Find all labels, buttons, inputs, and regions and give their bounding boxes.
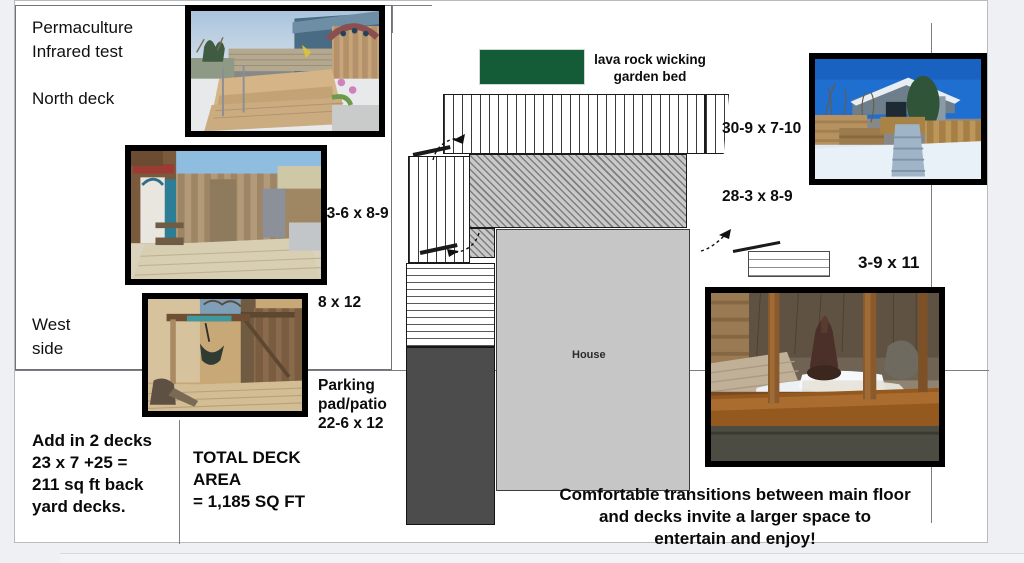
note-add-decks: Add in 2 decks 23 x 7 +25 = 211 sq ft ba… [32, 430, 192, 518]
photo-swing-deck[interactable] [142, 293, 308, 417]
screenshot-canvas: Permaculture Infrared test North deck We… [0, 0, 1024, 562]
north-deck-shape [443, 94, 705, 154]
lava-rock-swatch [479, 49, 585, 85]
dim-small-deck: 3-9 x 11 [858, 253, 919, 272]
photo-west-side[interactable] [125, 145, 327, 285]
house-label: House [572, 349, 606, 361]
dim-west-deck: 13-6 x 8-9 [318, 204, 389, 223]
photo-swing-deck-image [148, 299, 302, 414]
note-total-area: TOTAL DECK AREA = 1,185 SQ FT [193, 447, 373, 513]
north-arrow-callout [429, 134, 469, 162]
dim-parking-pad: Parking pad/patio 22-6 x 12 [318, 376, 387, 433]
parking-pad-shape [406, 347, 495, 525]
lava-rock-legend-label: lava rock wicking garden bed [585, 51, 715, 85]
textbox-corner-line-h [392, 5, 432, 6]
photo-north-deck[interactable] [185, 5, 385, 137]
photo-window-view-image [711, 293, 939, 464]
document-page: Permaculture Infrared test North deck We… [14, 0, 988, 543]
dim-north-deck: 30-9 x 7-10 [722, 119, 801, 138]
dim-wicking-bed: 28-3 x 8-9 [722, 187, 793, 206]
textbox-corner-line [392, 5, 393, 33]
photo-snow-stairs[interactable] [809, 53, 987, 185]
photo-snow-stairs-image [815, 59, 981, 182]
caption-transitions: Comfortable transitions between main flo… [525, 484, 945, 550]
small-deck-arrow-callout [699, 229, 741, 255]
small-deck-shape [748, 251, 830, 277]
wicking-bed-shape [469, 154, 687, 228]
west-arrow-callout [443, 231, 483, 257]
photo-north-deck-image [191, 11, 379, 135]
dim-patio-deck: 8 x 12 [318, 293, 361, 312]
photo-window-view[interactable] [705, 287, 945, 467]
patio-deck-shape [406, 263, 495, 347]
photo-west-side-image [131, 151, 321, 283]
